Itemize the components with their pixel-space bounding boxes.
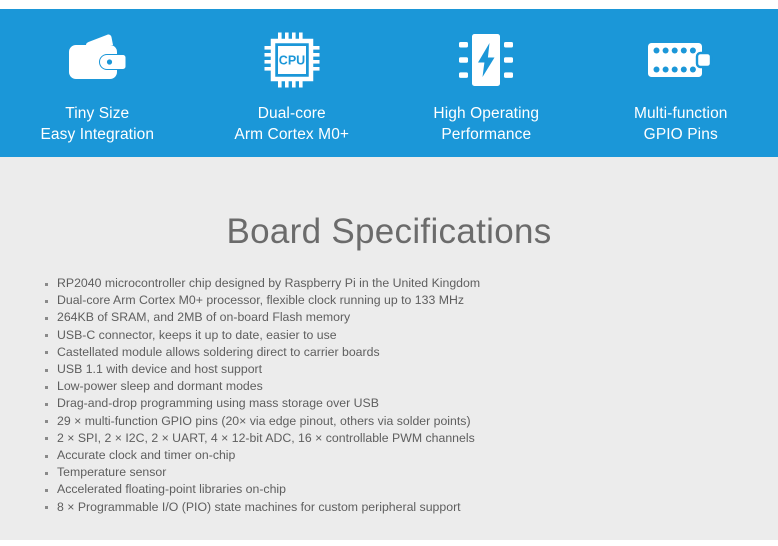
feature-card-high-performance: High Operating Performance: [389, 9, 584, 157]
spec-list: RP2040 microcontroller chip designed by …: [44, 275, 758, 516]
gpio-board-icon: [645, 29, 717, 91]
feature-label-line1: Tiny Size: [40, 103, 154, 124]
feature-card-dual-core: CPU Dual-core Arm Cortex M0+: [195, 9, 390, 157]
feature-label-line2: Performance: [433, 124, 539, 145]
feature-label-gpio-pins: Multi-function GPIO Pins: [634, 103, 728, 145]
list-item: Castellated module allows soldering dire…: [44, 344, 758, 361]
feature-label-tiny-size: Tiny Size Easy Integration: [40, 103, 154, 145]
page-title: Board Specifications: [0, 157, 778, 252]
feature-label-high-performance: High Operating Performance: [433, 103, 539, 145]
list-item: RP2040 microcontroller chip designed by …: [44, 275, 758, 292]
list-item: 2 × SPI, 2 × I2C, 2 × UART, 4 × 12-bit A…: [44, 430, 758, 447]
feature-label-line2: GPIO Pins: [634, 124, 728, 145]
list-item: USB-C connector, keeps it up to date, ea…: [44, 327, 758, 344]
list-item: 29 × multi-function GPIO pins (20× via e…: [44, 413, 758, 430]
feature-label-line2: Easy Integration: [40, 124, 154, 145]
cpu-icon-label: CPU: [279, 54, 305, 68]
feature-label-line1: High Operating: [433, 103, 539, 124]
wallet-icon: [61, 29, 133, 91]
cpu-chip-icon: CPU: [256, 29, 328, 91]
feature-label-line1: Multi-function: [634, 103, 728, 124]
list-item: Dual-core Arm Cortex M0+ processor, flex…: [44, 292, 758, 309]
feature-label-line2: Arm Cortex M0+: [234, 124, 349, 145]
feature-label-dual-core: Dual-core Arm Cortex M0+: [234, 103, 349, 145]
lightning-chip-icon: [450, 29, 522, 91]
list-item: Accurate clock and timer on-chip: [44, 447, 758, 464]
feature-card-tiny-size: Tiny Size Easy Integration: [0, 9, 195, 157]
feature-card-gpio-pins: Multi-function GPIO Pins: [584, 9, 778, 157]
list-item: Drag-and-drop programming using mass sto…: [44, 395, 758, 412]
feature-banner: Tiny Size Easy Integration: [0, 9, 778, 157]
list-item: 8 × Programmable I/O (PIO) state machine…: [44, 499, 758, 516]
product-spec-page: Tiny Size Easy Integration: [0, 0, 778, 546]
list-item: Low-power sleep and dormant modes: [44, 378, 758, 395]
list-item: USB 1.1 with device and host support: [44, 361, 758, 378]
page-bottom-margin: [0, 540, 778, 546]
list-item: Accelerated floating-point libraries on-…: [44, 481, 758, 498]
feature-label-line1: Dual-core: [234, 103, 349, 124]
board-specifications-section: Board Specifications RP2040 microcontrol…: [0, 157, 778, 540]
list-item: Temperature sensor: [44, 464, 758, 481]
list-item: 264KB of SRAM, and 2MB of on-board Flash…: [44, 309, 758, 326]
